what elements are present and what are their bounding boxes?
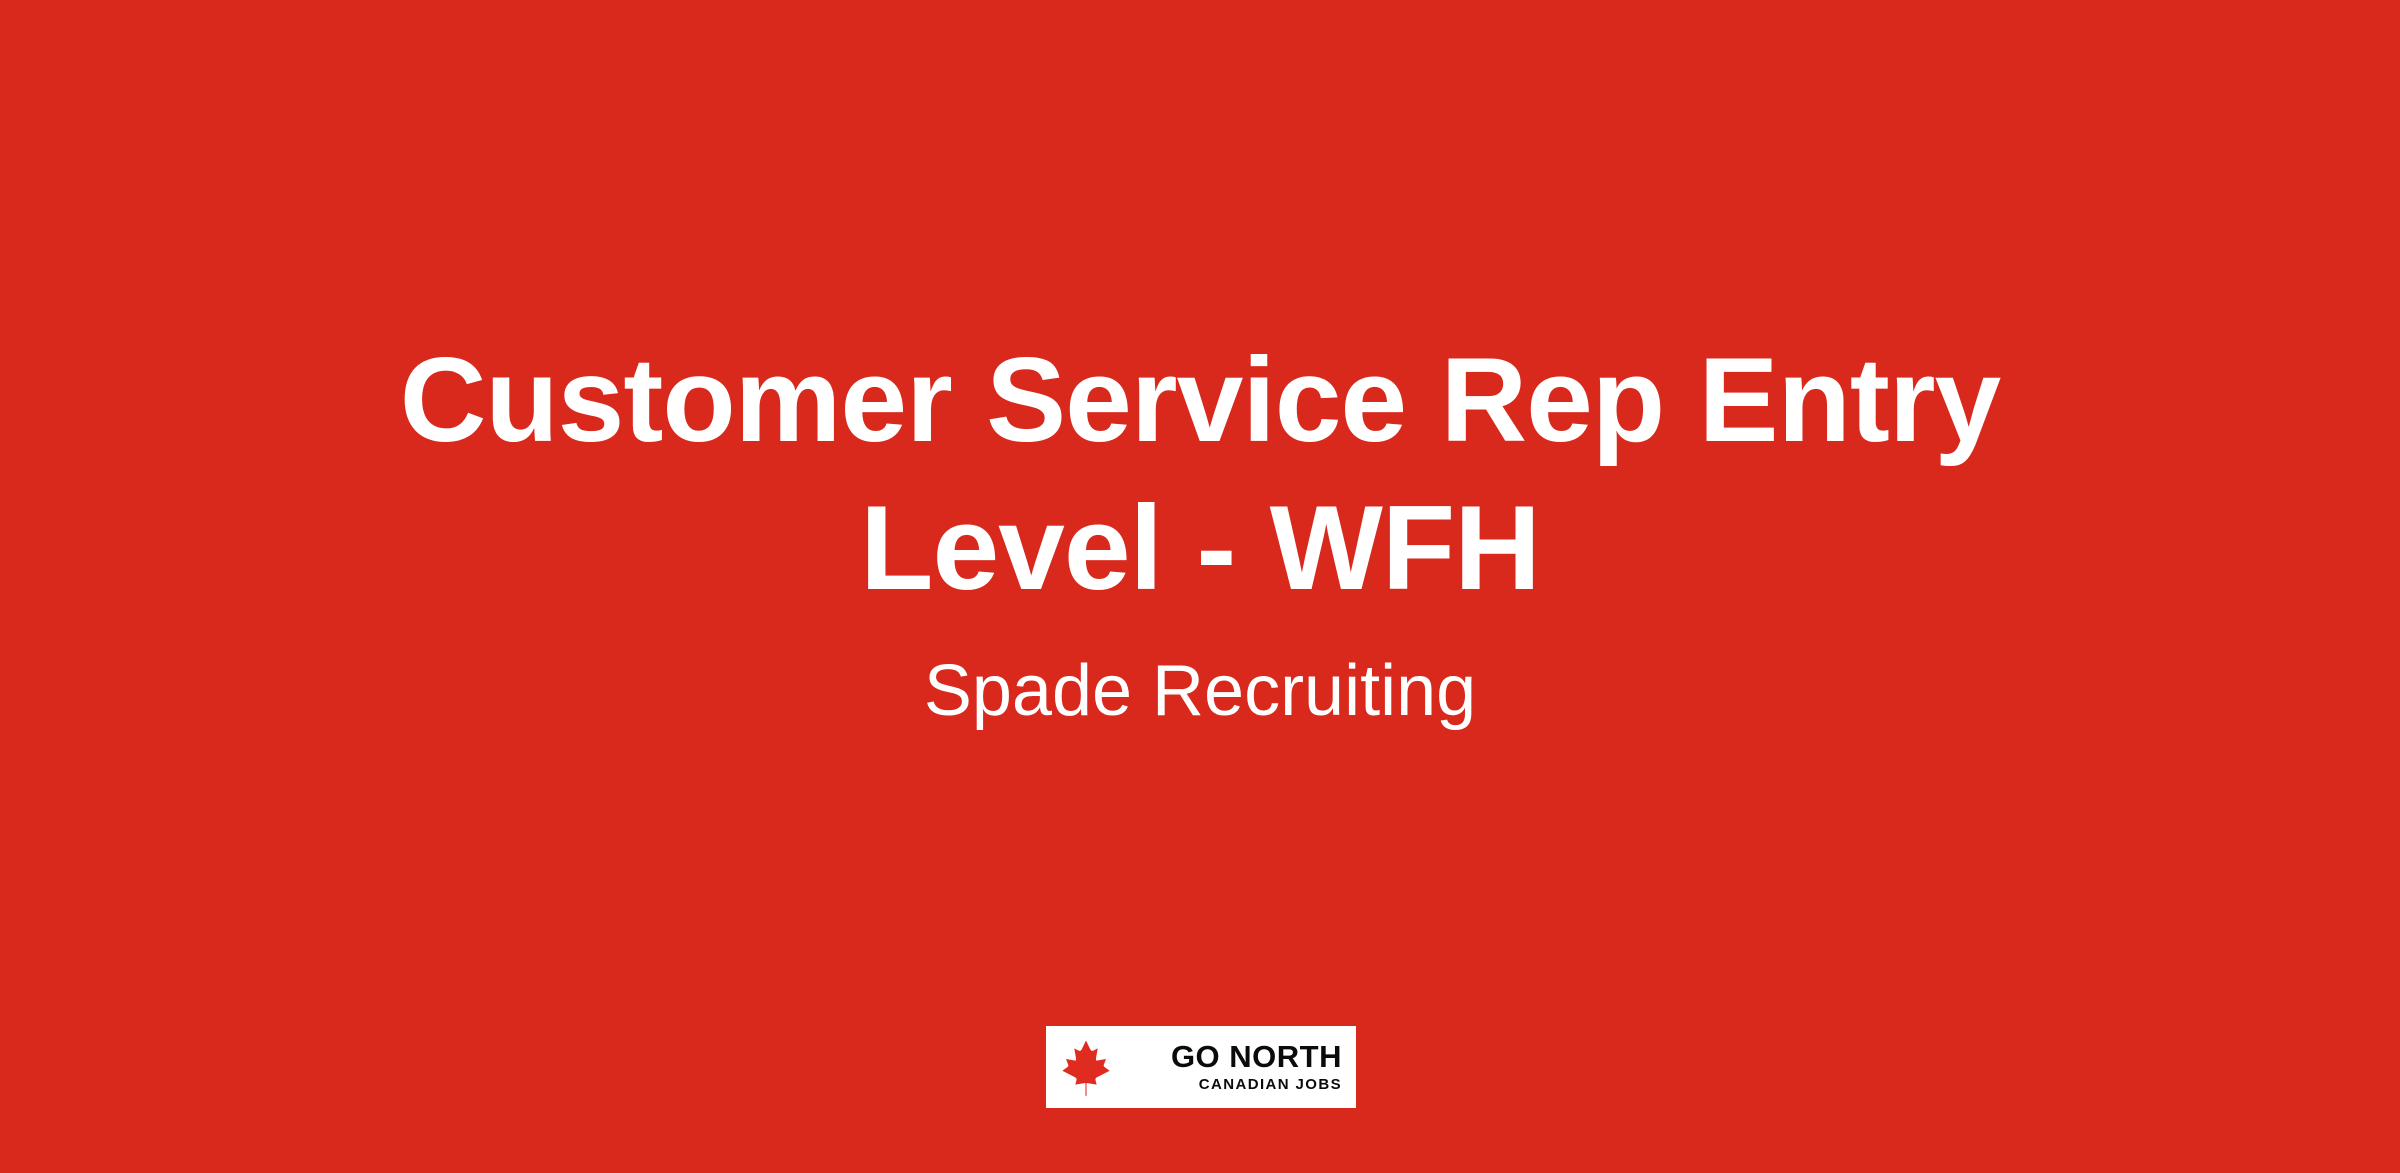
company-name: Spade Recruiting xyxy=(350,648,2050,734)
brand-wordmark: GO NORTH CANADIAN JOBS xyxy=(1112,1040,1346,1095)
job-text-block: Customer Service Rep Entry Level - WFH S… xyxy=(0,0,2400,1000)
maple-leaf-icon xyxy=(1060,1038,1112,1096)
brand-logo[interactable]: GO NORTH CANADIAN JOBS xyxy=(1046,1026,1356,1108)
page-title: Customer Service Rep Entry Level - WFH xyxy=(350,326,2050,622)
brand-primary-text: GO NORTH xyxy=(1171,1040,1342,1073)
brand-secondary-text: CANADIAN JOBS xyxy=(1199,1075,1342,1095)
job-posting-card: Customer Service Rep Entry Level - WFH S… xyxy=(0,0,2400,1173)
